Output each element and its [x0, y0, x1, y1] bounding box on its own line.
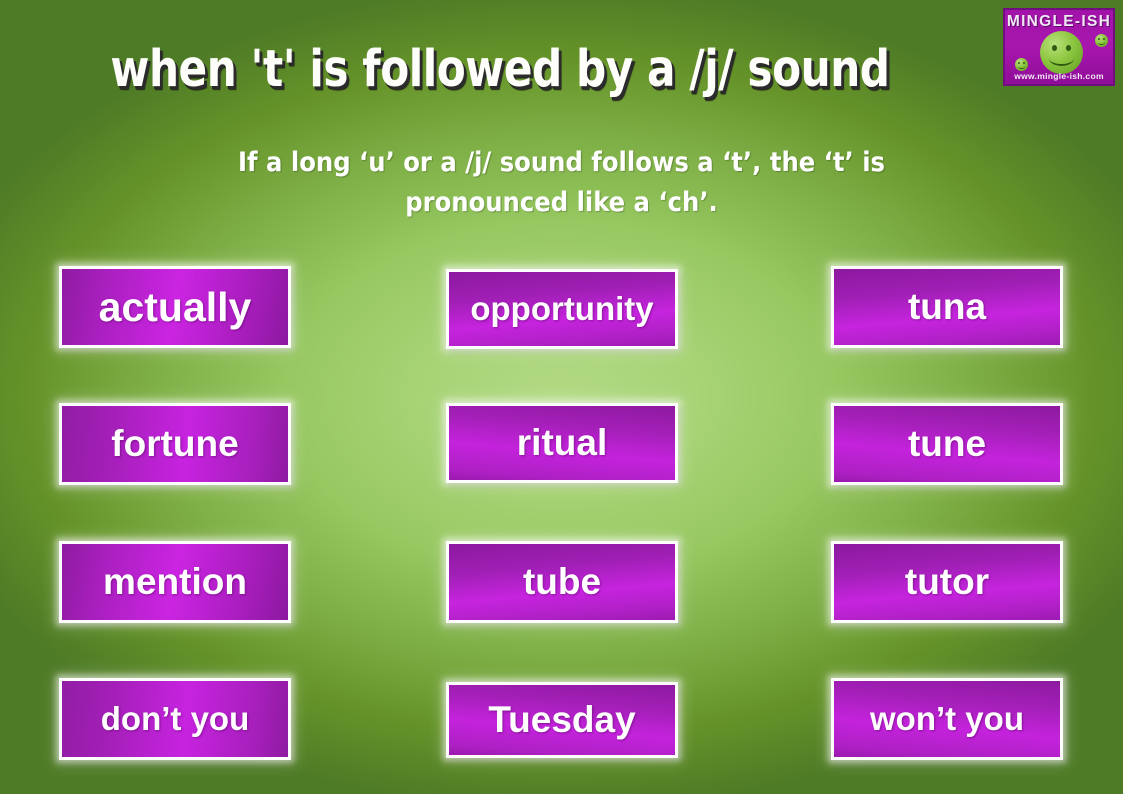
word-card[interactable]: tube — [446, 541, 678, 623]
rule-description: If a long ‘u’ or a /j/ sound follows a ‘… — [205, 143, 918, 223]
word-card[interactable]: won’t you — [831, 678, 1063, 760]
logo-brand-text: MINGLE-ISH — [1005, 13, 1113, 31]
word-card[interactable]: mention — [59, 541, 291, 623]
word-card-label: ritual — [517, 422, 607, 464]
word-card-label: mention — [103, 561, 247, 603]
word-card-label: actually — [99, 284, 252, 331]
smiley-mouth — [1098, 40, 1105, 45]
smiley-mouth — [1049, 51, 1074, 66]
mingle-ish-logo[interactable]: MINGLE-ISH www.mingle-ish.com — [1003, 8, 1115, 86]
word-card-label: opportunity — [470, 290, 653, 328]
word-card[interactable]: tuna — [831, 266, 1063, 348]
word-card-label: tube — [523, 561, 601, 603]
word-card-label: Tuesday — [488, 699, 635, 741]
word-card[interactable]: tune — [831, 403, 1063, 485]
page-title: when 't' is followed by a /j/ sound — [40, 40, 960, 99]
word-card-label: don’t you — [101, 700, 249, 738]
smiley-face-small-right-icon — [1095, 34, 1108, 47]
word-card-label: tuna — [908, 286, 986, 328]
word-card-label: fortune — [111, 423, 238, 465]
smiley-face-large-icon — [1040, 31, 1083, 74]
word-card[interactable]: opportunity — [446, 269, 678, 349]
word-card-label: tutor — [905, 561, 989, 603]
word-card[interactable]: fortune — [59, 403, 291, 485]
word-card-label: won’t you — [870, 700, 1024, 738]
word-card[interactable]: ritual — [446, 403, 678, 483]
slide-canvas: MINGLE-ISH www.mingle-ish.com when 't' i… — [0, 0, 1123, 794]
word-card[interactable]: don’t you — [59, 678, 291, 760]
word-card[interactable]: Tuesday — [446, 682, 678, 758]
word-card[interactable]: tutor — [831, 541, 1063, 623]
smiley-mouth — [1018, 64, 1025, 69]
smiley-face-small-left-icon — [1015, 58, 1028, 71]
word-card-label: tune — [908, 423, 986, 465]
word-card[interactable]: actually — [59, 266, 291, 348]
logo-website-url: www.mingle-ish.com — [1005, 71, 1113, 81]
